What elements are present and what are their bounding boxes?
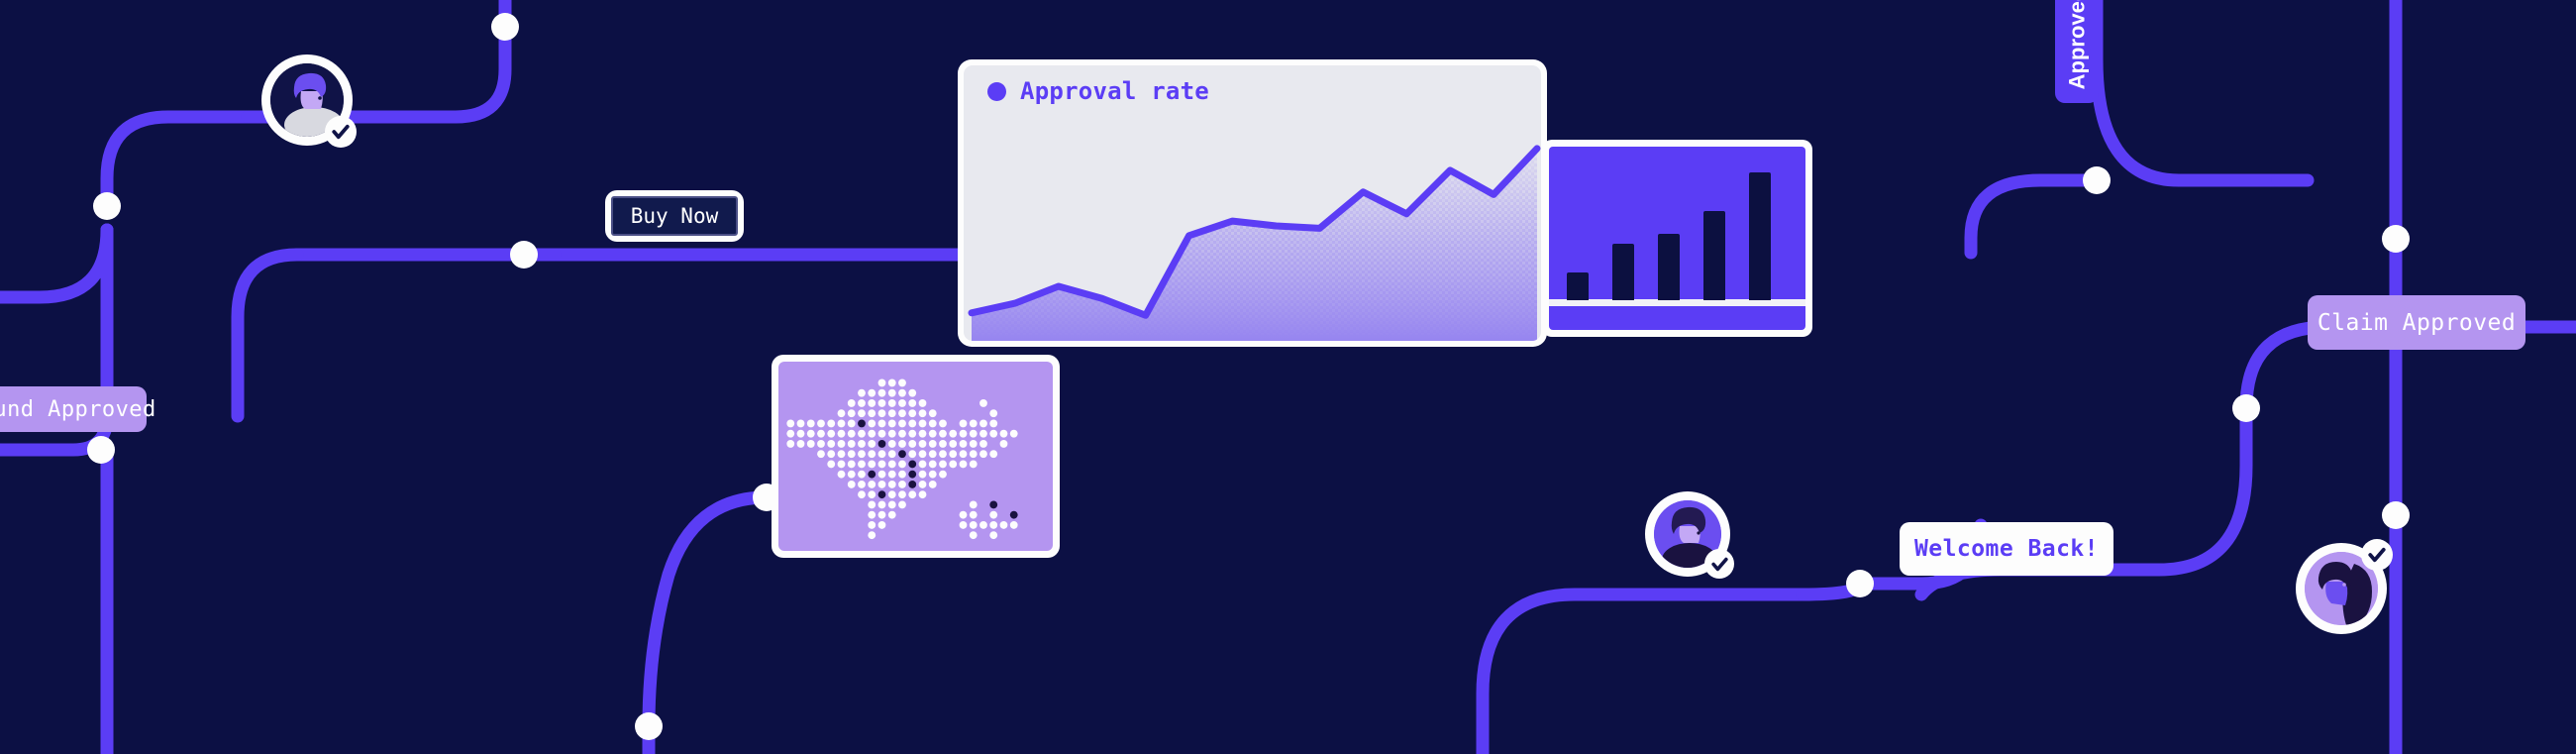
avatar-top-left[interactable] [261, 54, 353, 146]
map-marker-dot [908, 471, 916, 479]
map-dot [878, 471, 886, 479]
map-dot [817, 440, 825, 448]
map-marker-dot [989, 501, 997, 509]
map-dot [960, 521, 968, 529]
map-dot [848, 450, 856, 458]
map-dot [868, 490, 876, 498]
bar-chart-bar [1749, 172, 1771, 300]
map-dot [929, 461, 937, 469]
badge-refund-approved[interactable]: Refund Approved [0, 386, 147, 432]
map-dot [888, 409, 896, 417]
map-dot [827, 420, 835, 428]
map-dot [949, 430, 957, 438]
avatar-far-right-check-icon [2361, 539, 2393, 571]
map-dot [848, 481, 856, 488]
map-dot [970, 511, 978, 519]
map-dot [858, 399, 866, 407]
map-dot [848, 440, 856, 448]
map-dot [868, 399, 876, 407]
legend-label: Approval rate [1020, 77, 1209, 105]
map-dot [898, 430, 906, 438]
map-dot [929, 440, 937, 448]
map-dot [970, 531, 978, 539]
map-dot [868, 501, 876, 509]
map-dot [960, 511, 968, 519]
map-dot [868, 521, 876, 529]
map-dot [878, 409, 886, 417]
avatar-top-left-check-icon [325, 116, 357, 148]
map-dot [827, 440, 835, 448]
map-dot [908, 420, 916, 428]
map-dot [919, 430, 927, 438]
connector-node [87, 436, 115, 464]
avatar-center-right[interactable] [1645, 491, 1730, 577]
badge-approved-vertical-label: Approved [2064, 0, 2090, 89]
approval-rate-legend: Approval rate [987, 77, 1209, 105]
path-bottom-rise [1483, 594, 1803, 754]
map-dot [858, 450, 866, 458]
map-dot [949, 440, 957, 448]
map-dot [878, 450, 886, 458]
map-dot [827, 430, 835, 438]
map-dot [868, 440, 876, 448]
map-dot [939, 471, 947, 479]
map-dot [919, 471, 927, 479]
map-marker-dot [878, 490, 886, 498]
map-dot [908, 409, 916, 417]
world-map-plot [778, 362, 1053, 551]
map-dot [929, 450, 937, 458]
map-dot [929, 471, 937, 479]
map-dot [848, 430, 856, 438]
map-dot [868, 420, 876, 428]
map-dot [970, 501, 978, 509]
map-dot [888, 471, 896, 479]
map-dot [878, 430, 886, 438]
map-dot [817, 430, 825, 438]
path-approved-down [2097, 0, 2278, 180]
connector-node [2382, 225, 2410, 253]
avatar-far-right[interactable] [2296, 543, 2387, 634]
map-dot [817, 450, 825, 458]
map-dot [970, 420, 978, 428]
map-dot [878, 461, 886, 469]
map-dot [827, 450, 835, 458]
map-dot [868, 531, 876, 539]
map-dot [1010, 430, 1018, 438]
map-dot [888, 481, 896, 488]
map-marker-dot [878, 440, 886, 448]
map-dot [858, 490, 866, 498]
map-dot [970, 521, 978, 529]
map-dot [848, 409, 856, 417]
path-mid-down [238, 255, 297, 416]
connector-node [2382, 501, 2410, 529]
map-dot [868, 389, 876, 397]
map-dot [786, 420, 794, 428]
map-dot [888, 389, 896, 397]
map-dot [949, 461, 957, 469]
map-dot [919, 481, 927, 488]
connector-node [491, 13, 519, 41]
map-dot [858, 440, 866, 448]
map-dot [848, 471, 856, 479]
map-dot [939, 430, 947, 438]
map-dot [807, 440, 815, 448]
map-dot [908, 490, 916, 498]
map-dot [786, 440, 794, 448]
path-left-to-avatar [107, 117, 248, 206]
map-dot [868, 430, 876, 438]
map-dot [929, 420, 937, 428]
map-dot [919, 409, 927, 417]
badge-refund-approved-label: Refund Approved [0, 397, 156, 422]
map-dot [989, 450, 997, 458]
path-left-upper [0, 230, 107, 297]
badge-approved-vertical[interactable]: Approved [2055, 0, 2099, 103]
map-dot [878, 379, 886, 387]
map-dot [858, 430, 866, 438]
map-dot [858, 461, 866, 469]
badge-claim-approved[interactable]: Claim Approved [2308, 295, 2525, 350]
map-dot [797, 420, 805, 428]
map-dot [898, 399, 906, 407]
map-dot [939, 461, 947, 469]
map-dot [878, 501, 886, 509]
map-dot [848, 420, 856, 428]
approval-rate-chart [964, 65, 1541, 341]
map-marker-dot [908, 481, 916, 488]
illustration-canvas: Refund Approved Buy Now Claim Approved W… [0, 0, 2576, 754]
map-dot [858, 471, 866, 479]
map-dot [939, 440, 947, 448]
bar-chart-bar [1567, 272, 1589, 300]
map-marker-dot [1010, 511, 1018, 519]
map-dot [868, 511, 876, 519]
map-dot [888, 501, 896, 509]
connector-node [1846, 570, 1874, 597]
approval-rate-stipple-texture [964, 65, 1541, 341]
map-dot [1000, 430, 1008, 438]
map-dot [919, 440, 927, 448]
badge-welcome-back[interactable]: Welcome Back! [1900, 522, 2113, 576]
path-approved-left [1971, 180, 2097, 248]
map-dot [838, 430, 846, 438]
world-map-card[interactable] [772, 355, 1060, 558]
approval-rate-plot: Approval rate [964, 65, 1541, 341]
map-dot [848, 461, 856, 469]
map-dot [898, 440, 906, 448]
map-dot [979, 450, 987, 458]
connector-node [635, 712, 663, 740]
map-marker-dot [898, 450, 906, 458]
map-dot [919, 461, 927, 469]
map-dot [970, 461, 978, 469]
map-dot [888, 379, 896, 387]
map-dot [929, 481, 937, 488]
map-dot [817, 420, 825, 428]
world-map-dots [778, 362, 1053, 551]
map-dot [838, 409, 846, 417]
map-dot [908, 450, 916, 458]
map-dot [960, 450, 968, 458]
map-dot [898, 409, 906, 417]
map-dot [868, 409, 876, 417]
map-dot [898, 389, 906, 397]
map-dot [989, 420, 997, 428]
map-dot [979, 399, 987, 407]
badge-welcome-back-label: Welcome Back! [1914, 536, 2099, 562]
legend-dot-icon [987, 82, 1006, 101]
map-dot [960, 430, 968, 438]
map-dot [868, 461, 876, 469]
map-dot [878, 521, 886, 529]
map-dot [898, 379, 906, 387]
map-dot [868, 450, 876, 458]
map-dot [786, 430, 794, 438]
map-dot [888, 461, 896, 469]
map-dot [908, 430, 916, 438]
map-dot [807, 420, 815, 428]
map-dot [979, 420, 987, 428]
map-dot [908, 399, 916, 407]
map-dot [797, 440, 805, 448]
map-dot [878, 511, 886, 519]
map-dot [960, 461, 968, 469]
map-dot [989, 511, 997, 519]
avatar-center-right-check-icon [1704, 549, 1734, 579]
map-marker-dot [868, 471, 876, 479]
map-dot [838, 461, 846, 469]
map-dot [939, 420, 947, 428]
badge-claim-approved-label: Claim Approved [2318, 310, 2516, 336]
map-dot [827, 461, 835, 469]
map-dot [919, 399, 927, 407]
map-dot [929, 409, 937, 417]
connector-node [2232, 394, 2260, 422]
map-dot [888, 399, 896, 407]
connector-node [510, 241, 538, 269]
map-dot [898, 471, 906, 479]
map-dot [888, 430, 896, 438]
map-dot [838, 420, 846, 428]
map-dot [878, 481, 886, 488]
map-dot [888, 450, 896, 458]
map-dot [908, 389, 916, 397]
bar-chart-plot [1549, 147, 1805, 330]
map-marker-dot [858, 420, 866, 428]
map-dot [807, 430, 815, 438]
map-dot [989, 531, 997, 539]
map-dot [878, 389, 886, 397]
bar-chart-card[interactable] [1542, 140, 1812, 337]
map-dot [888, 440, 896, 448]
map-dot [858, 409, 866, 417]
map-dot [979, 521, 987, 529]
map-dot [888, 490, 896, 498]
map-dot [898, 481, 906, 488]
map-dot [858, 481, 866, 488]
map-dot [797, 430, 805, 438]
map-dot [898, 420, 906, 428]
bar-chart-baseline [1549, 299, 1805, 306]
map-dot [868, 481, 876, 488]
map-dot [888, 420, 896, 428]
path-map-to-bottom-node [649, 497, 767, 754]
map-dot [970, 430, 978, 438]
bar-chart-bar [1703, 211, 1725, 300]
buy-now-button[interactable]: Buy Now [605, 190, 744, 242]
connector-node [2083, 166, 2111, 194]
bar-chart-bar [1612, 244, 1634, 300]
map-dot [908, 440, 916, 448]
map-marker-dot [908, 461, 916, 469]
map-dot [949, 450, 957, 458]
map-dot [898, 461, 906, 469]
bar-chart-bar [1658, 234, 1680, 300]
map-dot [888, 511, 896, 519]
map-dot [898, 501, 906, 509]
map-dot [960, 420, 968, 428]
map-dot [848, 399, 856, 407]
map-dot [919, 420, 927, 428]
map-dot [1010, 521, 1018, 529]
map-dot [919, 450, 927, 458]
map-dot [838, 440, 846, 448]
connector-node [93, 192, 121, 220]
map-dot [989, 409, 997, 417]
approval-rate-card[interactable]: Approval rate [958, 59, 1547, 347]
map-dot [1000, 440, 1008, 448]
map-dot [919, 490, 927, 498]
map-dot [970, 440, 978, 448]
map-dot [989, 430, 997, 438]
map-dot [960, 440, 968, 448]
buy-now-button-label: Buy Now [611, 196, 738, 236]
map-dot [929, 430, 937, 438]
map-dot [939, 450, 947, 458]
map-dot [979, 430, 987, 438]
map-dot [1000, 521, 1008, 529]
map-dot [858, 389, 866, 397]
map-dot [989, 521, 997, 529]
map-dot [878, 399, 886, 407]
map-dot [898, 490, 906, 498]
map-dot [838, 471, 846, 479]
map-dot [970, 450, 978, 458]
map-dot [979, 440, 987, 448]
map-dot [878, 420, 886, 428]
map-dot [838, 450, 846, 458]
